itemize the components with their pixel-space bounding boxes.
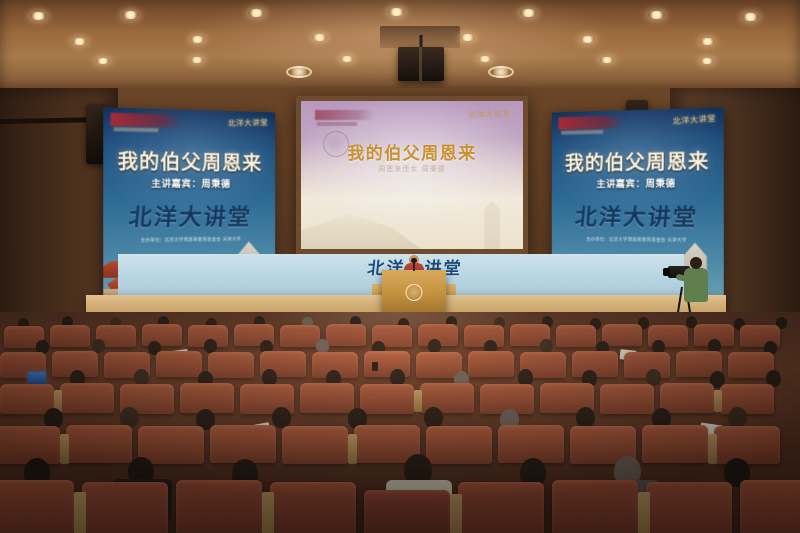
downlight-icon bbox=[312, 34, 327, 41]
audience-seat bbox=[714, 426, 780, 464]
downlight-icon bbox=[460, 34, 475, 41]
audience-seat bbox=[156, 351, 202, 377]
banner-corner-mark: 北洋大讲堂 bbox=[227, 117, 268, 129]
podium bbox=[382, 270, 446, 312]
ring-light-icon bbox=[488, 66, 514, 78]
university-emblem-icon bbox=[406, 284, 423, 301]
projection-screen-frame: 北洋大讲堂 我的伯父周恩来 周恩来侄女 周秉德 bbox=[296, 96, 528, 254]
seat-armrest bbox=[414, 390, 422, 412]
audience-seat bbox=[0, 480, 74, 533]
audience-seat bbox=[360, 384, 414, 414]
laptop-screen bbox=[28, 372, 46, 384]
audience-seat bbox=[426, 426, 492, 464]
downlight-icon bbox=[580, 36, 595, 43]
audience-head bbox=[428, 339, 441, 353]
banner-speaker-line: 主讲嘉宾：周秉德 bbox=[103, 175, 275, 190]
downlight-icon bbox=[248, 9, 265, 17]
audience-seat bbox=[50, 325, 90, 347]
projection-screen: 北洋大讲堂 我的伯父周恩来 周恩来侄女 周秉德 bbox=[301, 101, 523, 249]
audience-seat bbox=[66, 425, 132, 463]
audience-seat bbox=[300, 383, 354, 413]
downlight-icon bbox=[72, 38, 87, 45]
phone-held-up bbox=[372, 362, 378, 371]
banner-title: 我的伯父周恩来 bbox=[103, 144, 275, 175]
downlight-icon bbox=[600, 57, 614, 63]
audience-seat bbox=[364, 490, 450, 533]
audience-seat bbox=[552, 480, 638, 533]
audience-seat bbox=[0, 384, 54, 414]
audience-area bbox=[0, 312, 800, 533]
audience-seat bbox=[210, 425, 276, 463]
audience-head bbox=[272, 407, 291, 428]
downlight-icon bbox=[700, 58, 714, 64]
audience-seat bbox=[740, 480, 800, 533]
audience-seat bbox=[642, 425, 708, 463]
banner-calligraphy: 北洋大讲堂 bbox=[552, 198, 724, 233]
audience-head bbox=[728, 407, 747, 428]
banner-speaker-line: 主讲嘉宾：周秉德 bbox=[552, 175, 724, 190]
audience-head bbox=[424, 407, 443, 428]
audience-seat bbox=[82, 482, 168, 533]
audience-seat bbox=[600, 384, 654, 414]
downlight-icon bbox=[478, 56, 492, 62]
audience-seat bbox=[660, 383, 714, 413]
ceiling-projector-box bbox=[398, 47, 444, 81]
audience-seat bbox=[280, 325, 320, 347]
audience-seat bbox=[646, 482, 732, 533]
audience-seat bbox=[458, 482, 544, 533]
audience-head bbox=[576, 407, 595, 428]
downlight-icon bbox=[30, 12, 47, 20]
audience-head bbox=[316, 339, 329, 353]
seat-armrest bbox=[74, 492, 86, 533]
downlight-icon bbox=[388, 8, 405, 16]
seat-armrest bbox=[708, 434, 717, 464]
audience-head bbox=[540, 339, 553, 353]
downlight-icon bbox=[340, 56, 354, 62]
audience-seat bbox=[282, 426, 348, 464]
banner-title: 我的伯父周恩来 bbox=[552, 144, 724, 175]
slide-title: 我的伯父周恩来 bbox=[301, 139, 523, 164]
operator-body bbox=[684, 268, 708, 302]
audience-seat bbox=[60, 383, 114, 413]
operator-head bbox=[690, 257, 702, 269]
seat-armrest bbox=[348, 434, 357, 464]
banner-calligraphy: 北洋大讲堂 bbox=[103, 198, 275, 233]
ring-light-icon bbox=[286, 66, 312, 78]
audience-seat bbox=[556, 325, 596, 347]
microphone-icon bbox=[413, 261, 415, 271]
audience-seat bbox=[468, 351, 514, 377]
audience-seat bbox=[602, 324, 642, 346]
seat-armrest bbox=[60, 434, 69, 464]
downlight-icon bbox=[190, 57, 204, 63]
slide-corner-mark: 北洋大讲堂 bbox=[468, 108, 511, 120]
audience-seat bbox=[326, 324, 366, 346]
auditorium-photo: 北洋大讲堂 我的伯父周恩来 主讲嘉宾：周秉德 北洋大讲堂 主办单位：北京大学周恩… bbox=[0, 0, 800, 533]
slide-logo-icon bbox=[315, 110, 373, 120]
downlight-icon bbox=[122, 11, 139, 19]
audience-seat bbox=[176, 480, 262, 533]
slide-subtitle: 周恩来侄女 周秉德 bbox=[301, 164, 523, 174]
downlight-icon bbox=[190, 36, 205, 43]
downlight-icon bbox=[648, 11, 665, 19]
audience-seat bbox=[720, 384, 774, 414]
organizer-logo-icon bbox=[558, 115, 625, 130]
seat-armrest bbox=[262, 492, 274, 533]
downlight-icon bbox=[700, 38, 715, 45]
audience-seat bbox=[270, 482, 356, 533]
camera-lens-icon bbox=[663, 268, 670, 276]
seat-armrest bbox=[714, 390, 722, 412]
audience-seat bbox=[0, 426, 60, 464]
audience-head bbox=[204, 339, 217, 353]
seat-armrest bbox=[638, 492, 650, 533]
slide-logo-subtext bbox=[317, 122, 357, 126]
downlight-icon bbox=[96, 58, 110, 64]
audience-seat bbox=[208, 352, 254, 378]
downlight-icon bbox=[742, 13, 759, 21]
audience-seat bbox=[142, 324, 182, 346]
downlight-icon bbox=[520, 9, 537, 17]
seat-armrest bbox=[450, 494, 462, 533]
organizer-logo-icon bbox=[110, 113, 181, 128]
